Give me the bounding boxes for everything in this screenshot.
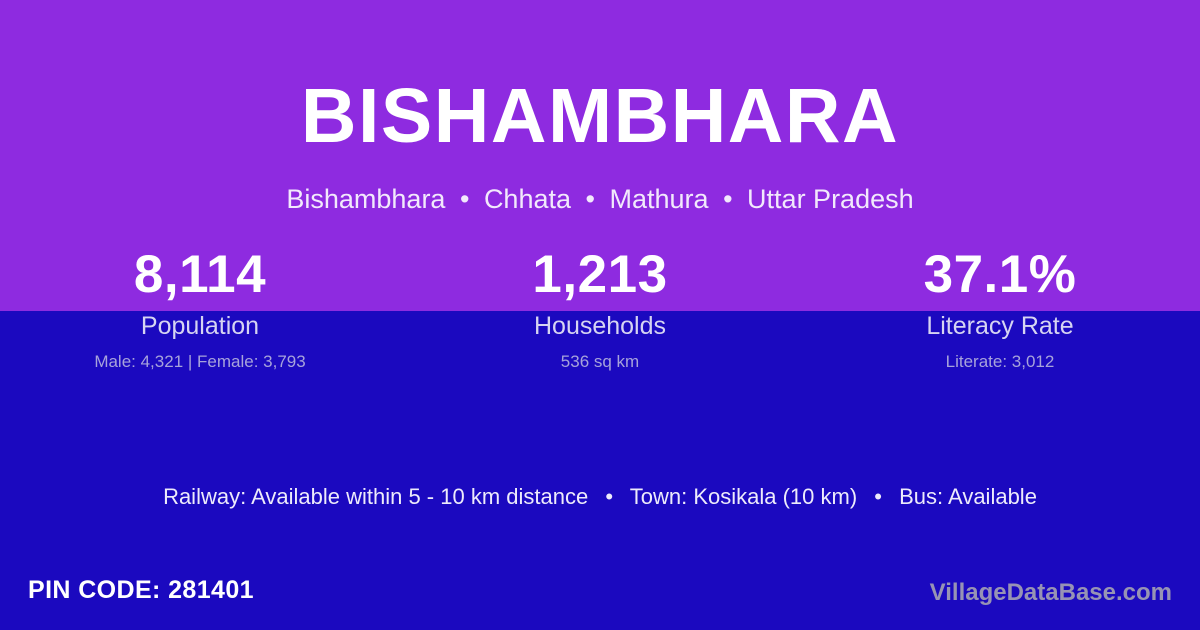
amenity-town: Town: Kosikala (10 km) — [630, 484, 857, 509]
breadcrumb: Bishambhara • Chhata • Mathura • Uttar P… — [0, 183, 1200, 215]
page-title: BISHAMBHARA — [0, 78, 1200, 155]
stat-population: 8,114 Population Male: 4,321 | Female: 3… — [0, 244, 400, 373]
amenities-line: Railway: Available within 5 - 10 km dist… — [0, 483, 1200, 511]
breadcrumb-district: Mathura — [610, 184, 709, 214]
stat-value: 1,213 — [400, 244, 800, 306]
breadcrumb-separator-icon: • — [716, 184, 739, 214]
site-watermark: VillageDataBase.com — [930, 578, 1172, 608]
breadcrumb-village: Bishambhara — [286, 184, 445, 214]
stat-sublabel: 536 sq km — [400, 351, 800, 373]
amenity-bus: Bus: Available — [899, 484, 1037, 509]
breadcrumb-block: Chhata — [484, 184, 571, 214]
stat-households: 1,213 Households 536 sq km — [400, 244, 800, 373]
stat-sublabel: Male: 4,321 | Female: 3,793 — [0, 351, 400, 373]
stat-literacy-rate: 37.1% Literacy Rate Literate: 3,012 — [800, 244, 1200, 373]
pin-code: PIN CODE: 281401 — [28, 575, 254, 605]
stat-value: 8,114 — [0, 244, 400, 306]
amenity-separator-icon: • — [594, 484, 624, 509]
stat-value: 37.1% — [800, 244, 1200, 306]
stat-label: Households — [400, 311, 800, 341]
village-info-card: BISHAMBHARA Bishambhara • Chhata • Mathu… — [0, 0, 1200, 630]
stat-label: Literacy Rate — [800, 311, 1200, 341]
stat-sublabel: Literate: 3,012 — [800, 351, 1200, 373]
amenity-railway: Railway: Available within 5 - 10 km dist… — [163, 484, 588, 509]
breadcrumb-separator-icon: • — [453, 184, 476, 214]
breadcrumb-state: Uttar Pradesh — [747, 184, 914, 214]
stats-row: 8,114 Population Male: 4,321 | Female: 3… — [0, 244, 1200, 373]
stat-label: Population — [0, 311, 400, 341]
amenity-separator-icon: • — [863, 484, 893, 509]
breadcrumb-separator-icon: • — [579, 184, 602, 214]
